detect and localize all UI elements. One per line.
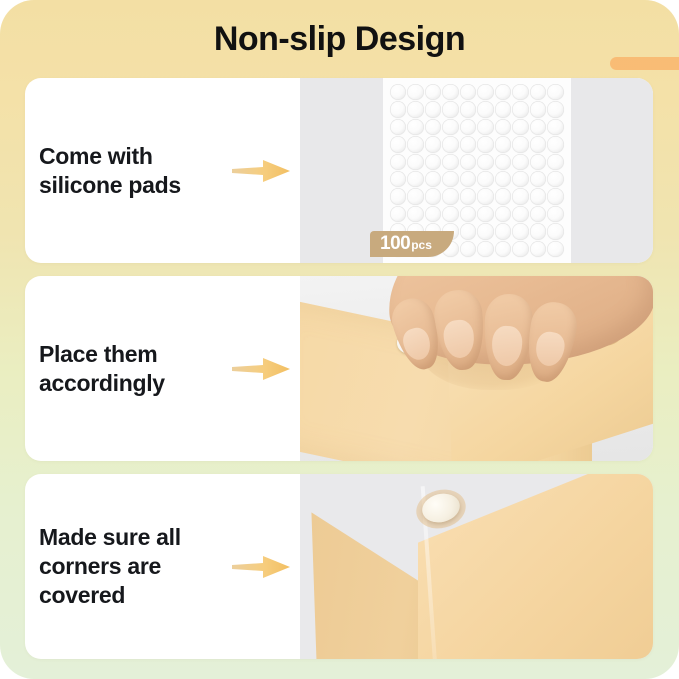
pad-dot <box>477 84 494 100</box>
arrow-right-icon <box>230 553 292 581</box>
pad-dot <box>547 84 564 100</box>
quantity-badge-number: 100 <box>380 231 410 257</box>
pad-dot <box>530 101 547 117</box>
pad-dot <box>390 84 407 100</box>
pad-dot <box>512 206 529 222</box>
pad-dot <box>495 101 512 117</box>
pad-dot <box>477 188 494 204</box>
pad-dot <box>442 154 459 170</box>
step-card-2: Place them accordingly <box>25 276 653 461</box>
step-1-media: 100 pcs <box>300 78 653 263</box>
step-3-caption: Made sure all corners are covered <box>39 523 234 610</box>
pad-dot <box>512 223 529 239</box>
pad-dot <box>425 171 442 187</box>
step-3-text-area: Made sure all corners are covered <box>25 474 300 659</box>
pad-dot <box>495 188 512 204</box>
pad-dot <box>477 136 494 152</box>
pad-dot <box>495 136 512 152</box>
pad-dot <box>512 241 529 257</box>
pad-dot <box>495 241 512 257</box>
pad-dot <box>425 206 442 222</box>
arrow-right-icon <box>230 157 292 185</box>
pad-dot <box>442 188 459 204</box>
pad-dot <box>407 188 424 204</box>
pad-dot <box>512 119 529 135</box>
pad-dot <box>460 101 477 117</box>
pad-dot <box>442 119 459 135</box>
step-2-media <box>300 276 653 461</box>
pad-dot <box>547 241 564 257</box>
pad-dot <box>477 223 494 239</box>
pad-dot <box>442 171 459 187</box>
step-1-caption: Come with silicone pads <box>39 142 234 200</box>
pad-dot <box>442 206 459 222</box>
title-highlight-bar <box>610 57 679 70</box>
pad-dot <box>460 171 477 187</box>
pad-dot <box>547 223 564 239</box>
pad-dot <box>460 154 477 170</box>
pad-dot <box>425 154 442 170</box>
pad-dot <box>477 154 494 170</box>
pad-dot <box>547 188 564 204</box>
pad-dot <box>460 136 477 152</box>
arrow-right-icon <box>230 355 292 383</box>
pad-dot <box>495 171 512 187</box>
pad-dot <box>512 136 529 152</box>
box-corner-photo <box>300 474 653 659</box>
pad-dot <box>512 154 529 170</box>
pad-dot <box>530 223 547 239</box>
step-card-1: Come with silicone pads <box>25 78 653 263</box>
pad-dot <box>547 206 564 222</box>
pad-dot <box>477 101 494 117</box>
pad-dot <box>512 188 529 204</box>
pad-dot <box>512 101 529 117</box>
step-1-text-area: Come with silicone pads <box>25 78 300 263</box>
pad-dot <box>407 206 424 222</box>
pad-dot <box>390 136 407 152</box>
pad-dot <box>495 154 512 170</box>
pad-dot <box>425 188 442 204</box>
step-card-3: Made sure all corners are covered <box>25 474 653 659</box>
pad-dot <box>477 241 494 257</box>
pad-dot <box>407 154 424 170</box>
step-2-caption: Place them accordingly <box>39 340 234 398</box>
step-2-text-area: Place them accordingly <box>25 276 300 461</box>
pad-dot <box>442 136 459 152</box>
pad-dot <box>530 154 547 170</box>
pad-dot <box>442 101 459 117</box>
pad-dot <box>530 188 547 204</box>
pad-dot <box>495 84 512 100</box>
pad-dot <box>477 119 494 135</box>
pad-dot <box>407 84 424 100</box>
pad-dot <box>530 136 547 152</box>
pad-dot <box>512 171 529 187</box>
pad-dot <box>460 241 477 257</box>
pad-dot <box>407 136 424 152</box>
pad-dot <box>425 119 442 135</box>
pad-dot <box>495 206 512 222</box>
pad-dot <box>495 119 512 135</box>
title-area: Non-slip Design <box>0 10 679 68</box>
pad-dot <box>547 154 564 170</box>
pad-dot <box>407 119 424 135</box>
pad-dot <box>547 101 564 117</box>
pad-dot <box>512 84 529 100</box>
pad-dot <box>530 84 547 100</box>
infographic-panel: Non-slip Design Come with silicone pads <box>0 0 679 679</box>
pad-dot <box>425 101 442 117</box>
pad-dot <box>530 206 547 222</box>
pad-dot <box>477 171 494 187</box>
page-title: Non-slip Design <box>214 17 465 61</box>
quantity-badge: 100 pcs <box>370 231 454 257</box>
pad-dot <box>425 84 442 100</box>
pad-dot <box>390 101 407 117</box>
pad-dot <box>407 101 424 117</box>
pad-dot <box>495 223 512 239</box>
page-title-text: Non-slip Design <box>214 20 465 58</box>
pad-dot <box>407 171 424 187</box>
pad-dot <box>547 119 564 135</box>
pad-dot <box>390 188 407 204</box>
pad-dot <box>390 154 407 170</box>
pad-dot <box>460 119 477 135</box>
hand-placing-pad-photo <box>300 276 653 461</box>
pad-dot <box>390 206 407 222</box>
pad-dot <box>530 171 547 187</box>
pad-dot <box>460 84 477 100</box>
pad-dot <box>530 241 547 257</box>
step-3-media <box>300 474 653 659</box>
pad-dot <box>547 171 564 187</box>
pad-dot <box>460 206 477 222</box>
pad-dot <box>425 136 442 152</box>
pad-dot <box>390 119 407 135</box>
pad-dot <box>530 119 547 135</box>
pad-dot <box>477 206 494 222</box>
quantity-badge-unit: pcs <box>411 232 432 258</box>
pad-dot <box>547 136 564 152</box>
pad-dot <box>460 188 477 204</box>
pad-dot <box>460 223 477 239</box>
pad-dot <box>390 171 407 187</box>
pad-dot <box>442 84 459 100</box>
